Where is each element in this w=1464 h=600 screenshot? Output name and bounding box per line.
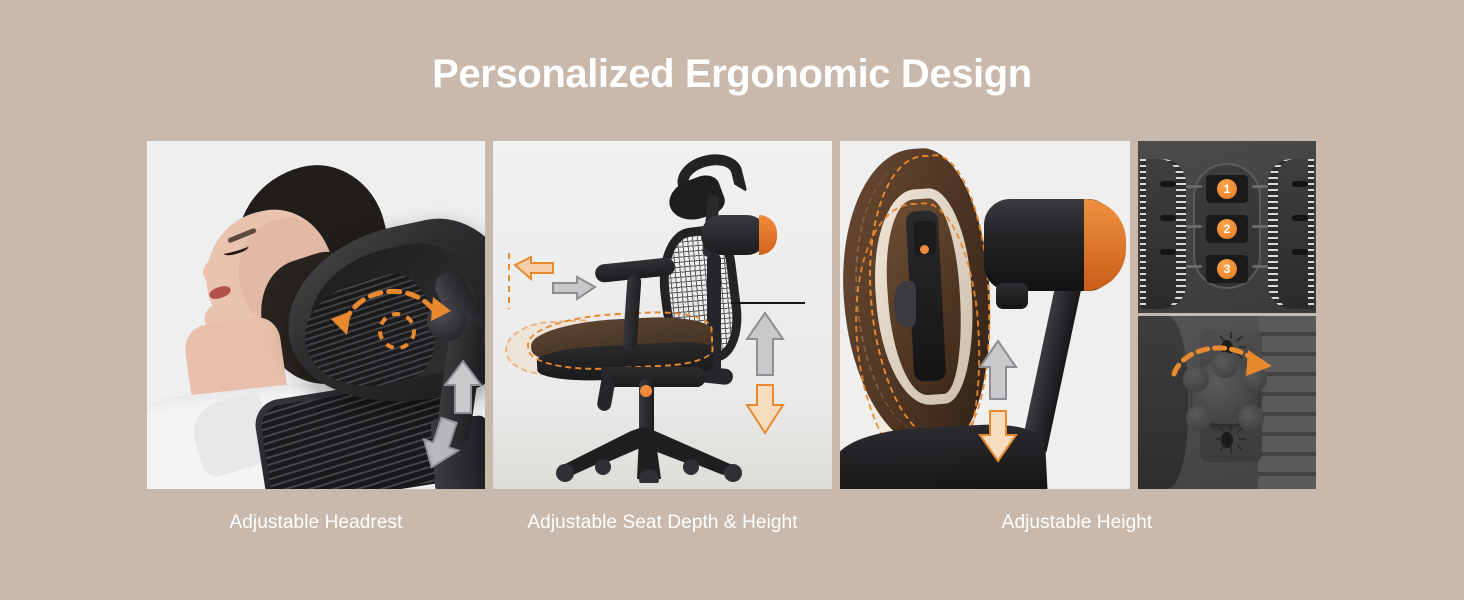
scale-tick — [1186, 185, 1202, 188]
sparkle-burst-icon — [1216, 424, 1246, 454]
chair-five-star-base — [551, 427, 747, 483]
grille-hole — [1160, 215, 1176, 221]
panel-adjustable-seat-depth-height[interactable] — [493, 141, 832, 489]
position-button-1[interactable]: 1 — [1217, 179, 1237, 199]
grille-slot-right — [1278, 159, 1308, 309]
position-button-2[interactable]: 2 — [1217, 219, 1237, 239]
caption-adjustable-headrest: Adjustable Headrest — [147, 512, 485, 534]
lumbar-height-arrows-icon — [968, 337, 1032, 465]
grille-hole — [1160, 249, 1176, 255]
scale-tick — [1186, 225, 1202, 228]
caption-adjustable-seat-depth-height: Adjustable Seat Depth & Height — [493, 512, 832, 534]
grille-hole — [1292, 215, 1308, 221]
grille-hole — [1292, 181, 1308, 187]
orange-accent-dot — [640, 385, 652, 397]
tile-tension-knob[interactable] — [1138, 316, 1316, 489]
knob-turn-arrow-icon — [1170, 336, 1274, 390]
scale-tick — [1252, 225, 1268, 228]
panel-adjustable-height[interactable] — [840, 141, 1130, 489]
caption-adjustable-height: Adjustable Height — [840, 512, 1314, 534]
rotation-arrow-icon — [325, 259, 453, 351]
scale-tick — [1186, 265, 1202, 268]
position-button-3[interactable]: 3 — [1217, 259, 1237, 279]
scale-tick — [1252, 185, 1268, 188]
grille-hole — [1292, 249, 1308, 255]
lumbar-cylinder — [701, 215, 767, 255]
caption-row: Adjustable Headrest Adjustable Seat Dept… — [0, 512, 1464, 546]
seat-depth-arrows-icon — [499, 253, 609, 309]
panel-adjustable-headrest[interactable] — [147, 141, 485, 489]
grille-slot-left — [1146, 159, 1176, 309]
panel-detail-tiles[interactable]: 1 2 3 — [1138, 141, 1316, 489]
knob-lobe — [1186, 405, 1212, 431]
tile-position-selector[interactable]: 1 2 3 — [1138, 141, 1316, 313]
scale-tick — [1252, 265, 1268, 268]
tilt-up-down-arrows-icon — [419, 359, 485, 471]
feature-panel-strip: 1 2 3 — [147, 141, 1314, 489]
page-title: Personalized Ergonomic Design — [0, 52, 1464, 97]
seat-height-arrows-icon — [731, 291, 805, 439]
cylinder-button — [996, 283, 1028, 309]
grille-hole — [1160, 181, 1176, 187]
